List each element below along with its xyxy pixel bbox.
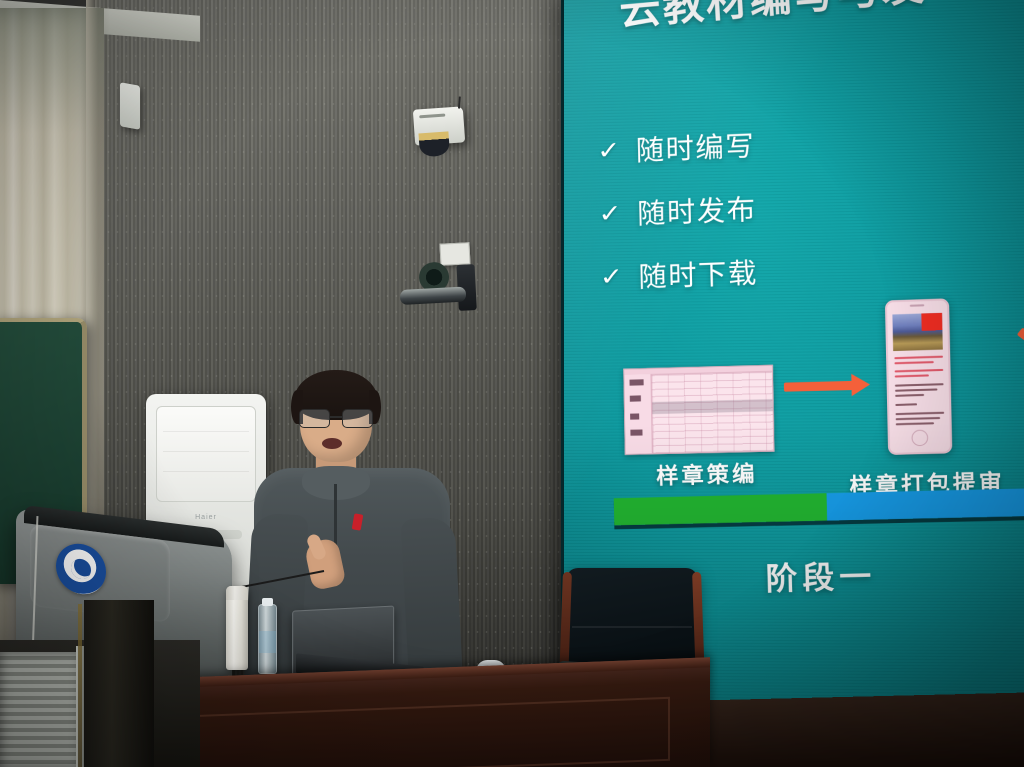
slide-bullet-list: ✓ 随时编写 ✓ 随时发布 ✓ 随时下载: [598, 124, 758, 297]
arrow-right-icon: [784, 381, 854, 392]
bullet-label: 随时下载: [638, 251, 758, 295]
wall-outlet-plate: [439, 242, 470, 266]
stage-caption: 阶段一: [765, 551, 877, 599]
phone-text-line: [895, 388, 938, 391]
dark-column: [84, 600, 154, 767]
list-item: ✓ 随时编写: [598, 124, 755, 171]
desk-front-panel: [190, 697, 670, 767]
glasses-bridge: [329, 416, 343, 418]
phone-red-overlay: [921, 313, 942, 331]
phone-text-lines: [894, 356, 944, 429]
list-item: ✓ 随时下载: [601, 251, 758, 297]
sheet-block: [630, 379, 644, 385]
presenter-mouth: [322, 438, 342, 449]
bullet-label: 随时发布: [637, 188, 757, 233]
sheet-block: [630, 395, 641, 401]
progress-segment-blue: [827, 488, 1024, 521]
sheet-block: [630, 429, 642, 435]
eyeglasses-icon: [298, 409, 374, 426]
phone-text-line: [895, 374, 929, 377]
bottle-label: [259, 631, 276, 653]
phone-text-line: [896, 417, 941, 420]
phone-text-line: [895, 369, 944, 372]
wall-speaker: [120, 82, 140, 130]
door-gold-edge: [78, 604, 82, 767]
arrow-right-icon: [1017, 327, 1024, 359]
university-emblem-icon: [56, 541, 106, 597]
camera-stem: [458, 96, 461, 108]
chair-seam: [572, 626, 692, 628]
phone-text-line: [896, 422, 934, 425]
ac-front-panel: [156, 406, 256, 502]
stage-progress-bar: [614, 488, 1024, 525]
slide-title: 云教材编写与发: [618, 0, 928, 37]
phone-text-line: [895, 383, 944, 386]
phone-speaker-notch: [910, 304, 925, 307]
list-item: ✓ 随时发布: [600, 188, 757, 234]
phone-hero-image: [892, 313, 942, 351]
glasses-right-lens: [342, 409, 373, 428]
phone-home-button: [911, 430, 928, 447]
thermos-cap: [226, 586, 248, 600]
phone-text-line: [895, 403, 917, 406]
ac-brand-label: Haier: [146, 514, 266, 521]
floor-air-vent: [0, 652, 82, 767]
phone-text-line: [894, 361, 933, 364]
phone-text-line: [895, 394, 924, 397]
wall-arm-mounted-camera: [399, 276, 477, 314]
spreadsheet-screenshot: [623, 365, 774, 455]
phone-text-line: [896, 412, 945, 415]
bullet-label: 随时编写: [635, 124, 755, 169]
water-bottle: [258, 604, 277, 674]
glasses-left-lens: [299, 409, 330, 428]
camera-body: [400, 287, 467, 305]
phone-mockup: [885, 298, 952, 455]
check-icon: ✓: [598, 201, 622, 226]
check-icon: ✓: [597, 138, 621, 163]
progress-segment-green: [614, 493, 827, 525]
thermos-flask: [226, 586, 248, 670]
stage-label-1: 样章策编: [656, 456, 758, 491]
phone-text-line: [894, 356, 943, 360]
presentation-photo-scene: 云教材编写与发 ✓ 随时编写 ✓ 随时发布 ✓ 随时下载: [0, 0, 1024, 767]
ceiling-dome-camera-icon: [413, 106, 465, 145]
sheet-block: [630, 413, 639, 419]
check-icon: ✓: [600, 264, 624, 289]
bottle-cap: [262, 598, 273, 606]
